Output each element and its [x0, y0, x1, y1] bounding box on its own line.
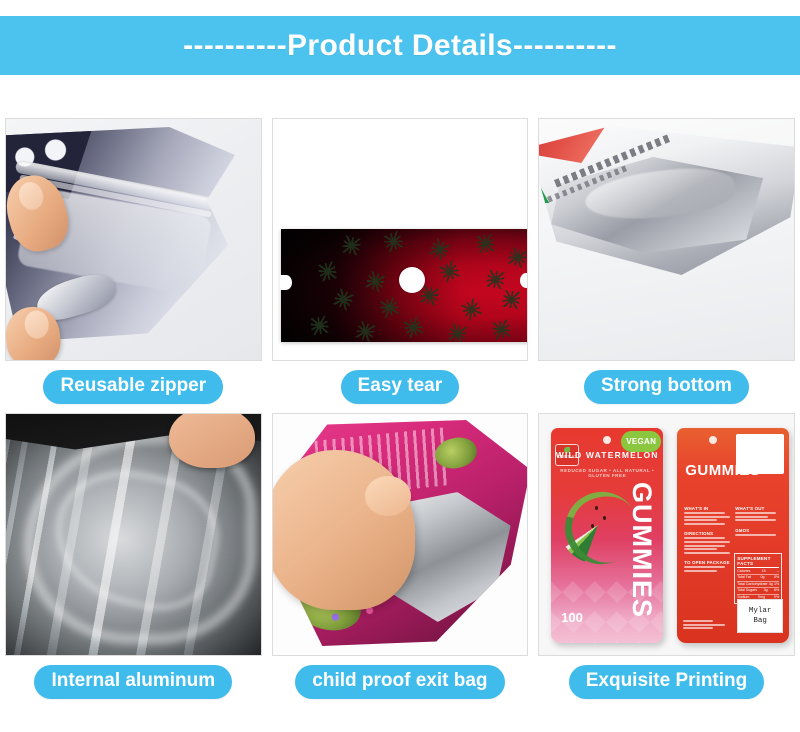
photo-internal-aluminum — [5, 413, 262, 656]
pouch-back: GUMMIES WHAT'S IN DIRECTIONS TO OPEN PAC… — [677, 428, 789, 643]
vegan-badge: VEGAN — [621, 431, 661, 452]
feature-label-internal-aluminum: Internal aluminum — [34, 665, 232, 699]
label-row: Strong bottom — [538, 361, 795, 413]
supplement-dv: 1% — [774, 582, 779, 587]
fingernail-icon — [16, 179, 47, 213]
sample-label-line2: Bag — [753, 616, 767, 626]
section-heading-gmos: GMOS — [735, 528, 781, 533]
supplement-amount: 0g — [760, 575, 764, 580]
photo-easy-tear — [272, 118, 529, 361]
feature-label-strong-bottom: Strong bottom — [584, 370, 749, 404]
supplement-dv: 6% — [774, 588, 779, 593]
sample-label-mylar-bag: Mylar Bag — [737, 599, 783, 633]
back-panel-footnote — [683, 620, 725, 631]
fingernail-icon — [23, 309, 50, 339]
label-row: Exquisite Printing — [538, 656, 795, 708]
tear-notch-right — [520, 273, 529, 288]
supplement-amount: 3g — [764, 588, 768, 593]
back-panel-right-column: WHAT'S OUT GMOS — [735, 506, 781, 537]
feature-row-1: Reusable zipper — [0, 118, 800, 413]
supplement-amount: 4g — [769, 582, 773, 587]
bag-tear-strip — [281, 229, 529, 342]
brand-name-front: GUMMIES — [626, 482, 657, 618]
product-count: 100 — [561, 610, 583, 625]
feature-cell-reusable-zipper: Reusable zipper — [0, 118, 267, 413]
fingertip — [365, 476, 411, 516]
supplement-amount: 15 — [762, 569, 766, 574]
feature-cell-strong-bottom: Strong bottom — [533, 118, 800, 413]
label-row: Internal aluminum — [5, 656, 262, 708]
supplement-dv: 0% — [774, 575, 779, 580]
stand-up-pouch — [538, 123, 795, 275]
feature-label-reusable-zipper: Reusable zipper — [43, 370, 223, 404]
feature-cell-internal-aluminum: Internal aluminum — [0, 413, 267, 708]
back-panel-left-column: WHAT'S IN DIRECTIONS TO OPEN PACKAGE — [684, 506, 730, 574]
supplement-nutrient: Total Sugars — [737, 588, 757, 593]
sample-label-line1: Mylar — [749, 606, 772, 616]
hang-hole — [603, 436, 611, 444]
supplement-nutrient: Total Fat — [737, 575, 751, 580]
hang-hole — [709, 436, 717, 444]
feature-cell-exquisite-printing: VEGAN OMEGA3 WILD WATERMELON REDUCED SUG… — [533, 413, 800, 708]
product-details-infographic: ----------Product Details---------- — [0, 0, 800, 732]
label-row: Easy tear — [272, 361, 529, 413]
page-title: ----------Product Details---------- — [183, 29, 617, 63]
pouch-front: VEGAN OMEGA3 WILD WATERMELON REDUCED SUG… — [551, 428, 663, 643]
flavor-name: WILD WATERMELON — [551, 450, 663, 460]
supplement-nutrient: Calories — [737, 569, 750, 574]
feature-cell-child-proof-exit-bag: child proof exit bag — [267, 413, 534, 708]
feature-label-exquisite-printing: Exquisite Printing — [569, 665, 765, 699]
section-heading-directions: DIRECTIONS — [684, 531, 730, 536]
photo-reusable-zipper — [5, 118, 262, 361]
section-heading-whats-in: WHAT'S IN — [684, 506, 730, 511]
feature-row-2: Internal aluminum child — [0, 413, 800, 708]
photo-strong-bottom — [538, 118, 795, 361]
photo-child-proof-exit-bag — [272, 413, 529, 656]
section-heading-whats-out: WHAT'S OUT — [735, 506, 781, 511]
feature-label-child-proof-exit-bag: child proof exit bag — [295, 665, 504, 699]
brand-name-back: GUMMIES — [685, 462, 760, 479]
feature-cell-easy-tear: Easy tear — [267, 118, 534, 413]
bag-print-red-area — [538, 119, 607, 163]
supplement-nutrient: Total Carbohydrate — [737, 582, 767, 587]
product-claims: REDUCED SUGAR • ALL NATURAL • GLUTEN FRE… — [551, 468, 663, 478]
supplement-facts-title: SUPPLEMENT FACTS — [737, 556, 779, 568]
label-row: Reusable zipper — [5, 361, 262, 413]
label-row: child proof exit bag — [272, 656, 529, 708]
tear-notch-left — [280, 275, 292, 290]
feature-grid: Reusable zipper — [0, 118, 800, 708]
feature-label-easy-tear: Easy tear — [341, 370, 460, 404]
hand-thumb — [169, 413, 255, 468]
page-header-banner: ----------Product Details---------- — [0, 16, 800, 75]
supplement-dv: -- — [777, 569, 779, 574]
hang-hole — [399, 267, 425, 293]
supplement-facts-panel: SUPPLEMENT FACTS Calories15-- Total Fat0… — [734, 553, 782, 604]
section-heading-to-open: TO OPEN PACKAGE — [684, 560, 730, 565]
photo-exquisite-printing: VEGAN OMEGA3 WILD WATERMELON REDUCED SUG… — [538, 413, 795, 656]
